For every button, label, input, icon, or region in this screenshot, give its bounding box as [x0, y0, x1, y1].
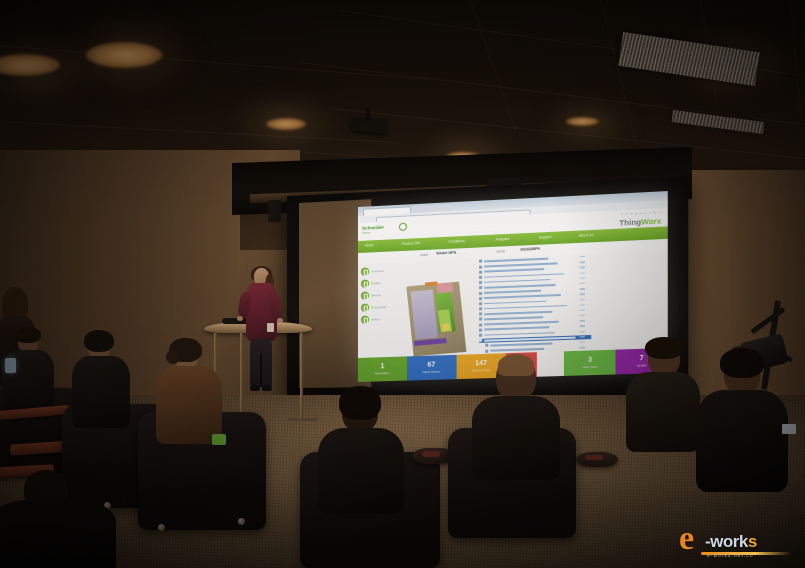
attendee-seated — [312, 390, 412, 510]
nav-item-5[interactable]: About Us — [579, 233, 594, 238]
attendee-hair — [84, 330, 114, 352]
attendee-torso — [472, 396, 560, 480]
presenter-hand — [277, 318, 283, 323]
kpi-tile-new-parts[interactable]: 3 New Parts — [564, 350, 615, 376]
breadcrumb-label-asset: Asset — [420, 253, 428, 257]
kpi-value: 67 — [427, 362, 435, 369]
breadcrumb-label-serial: Serial — [497, 249, 505, 253]
presenter-badge — [267, 323, 274, 332]
attendee-hair-bun — [166, 350, 180, 364]
sidebar-item-documents[interactable]: Documents — [361, 302, 401, 313]
presenter-shoe — [250, 385, 260, 391]
eworks-watermark: e -works e-works.net.cn — [679, 520, 797, 562]
nav-item-0[interactable]: Home — [365, 244, 374, 248]
sidebar-label: History — [371, 317, 380, 321]
node-icon — [479, 292, 482, 295]
attendee-torso — [156, 366, 222, 444]
node-icon — [485, 344, 488, 347]
schneider-logo: Schneider — [362, 224, 384, 230]
attendee-phone — [5, 358, 16, 373]
node-icon — [479, 286, 482, 289]
side-table-item — [422, 451, 440, 457]
cad-yellow-part — [442, 323, 450, 331]
attendee-hair — [339, 386, 381, 420]
sidebar-item-overview[interactable]: Overview — [361, 266, 401, 277]
nav-item-2[interactable]: Conditions — [448, 239, 464, 244]
node-icon — [479, 302, 482, 305]
attendee-seated — [470, 356, 568, 474]
podium-leg — [300, 333, 303, 421]
node-icon — [479, 334, 482, 337]
sidebar-label: Documents — [371, 305, 386, 310]
attendee-seated — [72, 332, 140, 432]
attendee-bald-top — [498, 354, 534, 376]
node-icon — [479, 307, 482, 310]
attendee-torso — [626, 372, 700, 452]
thingworx-wordmark: ThingWorx — [619, 217, 661, 226]
node-icon — [485, 349, 488, 352]
ceiling-light — [266, 118, 306, 130]
cad-pink-part — [437, 283, 453, 293]
nav-item-4[interactable]: Support — [539, 235, 551, 240]
breadcrumb-value-asset[interactable]: Smart UPS — [436, 251, 456, 256]
operator-hair — [720, 348, 764, 378]
node-icon — [479, 260, 482, 263]
sidebar-item-service[interactable]: Service — [361, 290, 401, 301]
camera-operator — [700, 352, 786, 492]
eworks-wordmark: -works — [705, 532, 757, 552]
node-icon — [479, 297, 482, 300]
side-table-item — [585, 455, 603, 460]
presenter-hand — [237, 316, 243, 321]
breadcrumb-value-serial[interactable]: AS332BF9 — [520, 247, 539, 252]
presenter-shoe — [262, 385, 272, 391]
nav-item-1[interactable]: Product Info — [402, 241, 420, 246]
attendee-green-item — [212, 434, 226, 445]
operator-badge — [782, 424, 796, 434]
sidebar-item-details[interactable]: Details — [361, 278, 401, 289]
sidebar-item-history[interactable]: History — [361, 314, 401, 325]
chair-caster — [158, 524, 165, 531]
kpi-label: New Alarm — [375, 372, 390, 375]
nav-item-3[interactable]: Analytics — [495, 237, 509, 242]
node-icon — [479, 265, 482, 268]
presenter — [239, 268, 285, 410]
attendee-torso — [72, 356, 130, 428]
attendee-seated — [626, 340, 706, 450]
service-icon — [361, 292, 368, 300]
history-icon — [361, 316, 368, 324]
wall-speaker-icon — [268, 200, 281, 222]
kpi-label: Open Orders — [423, 370, 441, 374]
sidebar-label: Details — [371, 281, 380, 285]
app-sidebar: Overview Details Service Documents Histo… — [358, 262, 402, 342]
operator-torso — [696, 390, 788, 492]
structure-tree[interactable] — [479, 255, 591, 355]
node-icon — [479, 281, 482, 284]
node-icon — [479, 276, 482, 279]
eworks-e-glyph: e — [679, 522, 694, 556]
projector-mount — [366, 108, 370, 120]
ceiling-light — [566, 117, 599, 126]
kpi-value: 3 — [588, 357, 592, 364]
node-icon — [479, 328, 482, 331]
sidebar-label: Service — [371, 293, 381, 297]
node-icon — [479, 323, 482, 326]
schneider-logo-sub: Electric — [362, 231, 370, 234]
attendee-torso — [318, 428, 404, 514]
cad-model-viewer[interactable] — [406, 278, 469, 359]
details-icon — [361, 280, 368, 288]
documents-icon — [361, 304, 368, 312]
schneider-ring-icon — [399, 223, 407, 231]
kpi-value: 1 — [380, 363, 384, 370]
foreground-attendee — [0, 470, 120, 568]
node-icon — [479, 313, 482, 316]
node-icon — [479, 270, 482, 273]
attendee-hair — [15, 327, 41, 343]
chair-caster — [238, 518, 245, 525]
overview-icon — [361, 268, 368, 276]
eworks-sub: e-works.net.cn — [707, 553, 754, 559]
thingworx-logo: P O W E R E D B Y ThingWorx — [619, 210, 661, 227]
kpi-label: New Parts — [583, 365, 598, 369]
kpi-tile-open-orders[interactable]: 67 Open Orders — [407, 355, 456, 381]
attendee-torso — [0, 500, 116, 568]
kpi-tile-new-alarm[interactable]: 1 New Alarm — [358, 356, 407, 382]
node-icon — [479, 318, 482, 321]
sidebar-label: Overview — [371, 269, 383, 274]
side-table — [576, 452, 618, 467]
node-icon — [479, 339, 482, 342]
attendee-hair — [645, 337, 683, 359]
presentation-room-photo: Schneider Electric P O W E R E D B Y Thi… — [0, 0, 805, 568]
